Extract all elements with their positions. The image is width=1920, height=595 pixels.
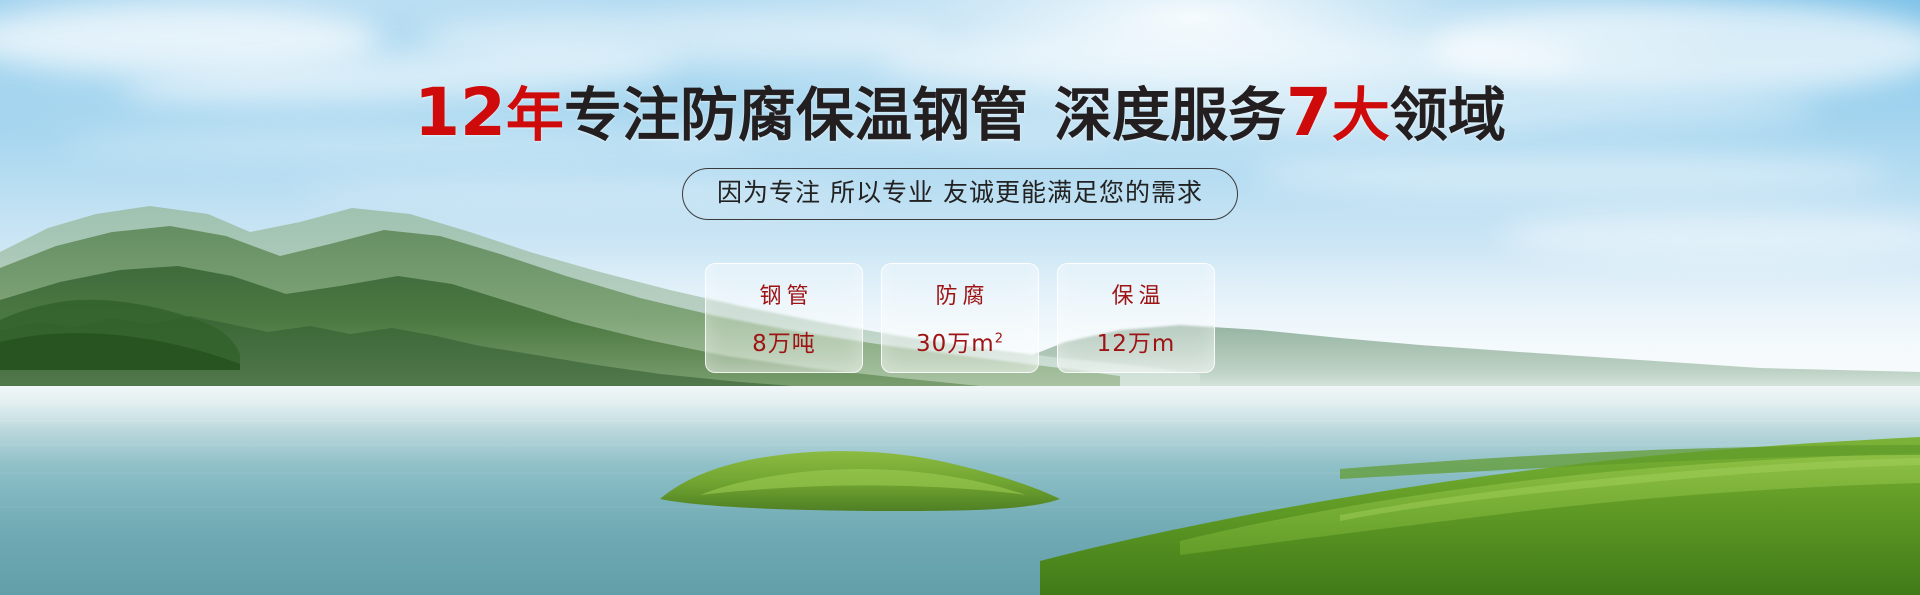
stat-card-label: 防腐	[930, 278, 989, 310]
stat-card-value: 30万m2	[916, 324, 1004, 358]
stat-card-insulation[interactable]: 保温 12万m	[1057, 263, 1215, 373]
stat-card-steel-pipe[interactable]: 钢管 8万吨	[705, 263, 863, 373]
headline-years-unit: 年	[506, 81, 564, 149]
stat-card-anticorrosion[interactable]: 防腐 30万m2	[881, 263, 1039, 373]
headline-fields-number: 7	[1286, 74, 1332, 151]
headline-years-number: 12	[414, 74, 506, 151]
stat-card-value-sup: 2	[995, 331, 1004, 346]
headline-main-text: 专注防腐保温钢管	[564, 81, 1028, 149]
stat-card-label: 保温	[1106, 278, 1165, 310]
stat-card-value: 12万m	[1097, 324, 1176, 358]
stat-card-group: 钢管 8万吨 防腐 30万m2 保温 12万m	[0, 263, 1920, 373]
stat-card-label: 钢管	[754, 278, 813, 310]
subtitle-pill: 因为专注 所以专业 友诚更能满足您的需求	[682, 168, 1238, 220]
subtitle-row: 因为专注 所以专业 友诚更能满足您的需求	[0, 168, 1920, 220]
headline-service-lead: 深度服务	[1054, 81, 1286, 149]
headline-tail-text: 领域	[1390, 81, 1506, 149]
stat-card-value: 8万吨	[752, 324, 816, 358]
hero-banner: 12年专注防腐保温钢管深度服务7大领域 因为专注 所以专业 友诚更能满足您的需求…	[0, 0, 1920, 595]
headline-fields-unit: 大	[1332, 81, 1390, 149]
banner-content: 12年专注防腐保温钢管深度服务7大领域 因为专注 所以专业 友诚更能满足您的需求…	[0, 0, 1920, 595]
headline: 12年专注防腐保温钢管深度服务7大领域	[0, 82, 1920, 146]
